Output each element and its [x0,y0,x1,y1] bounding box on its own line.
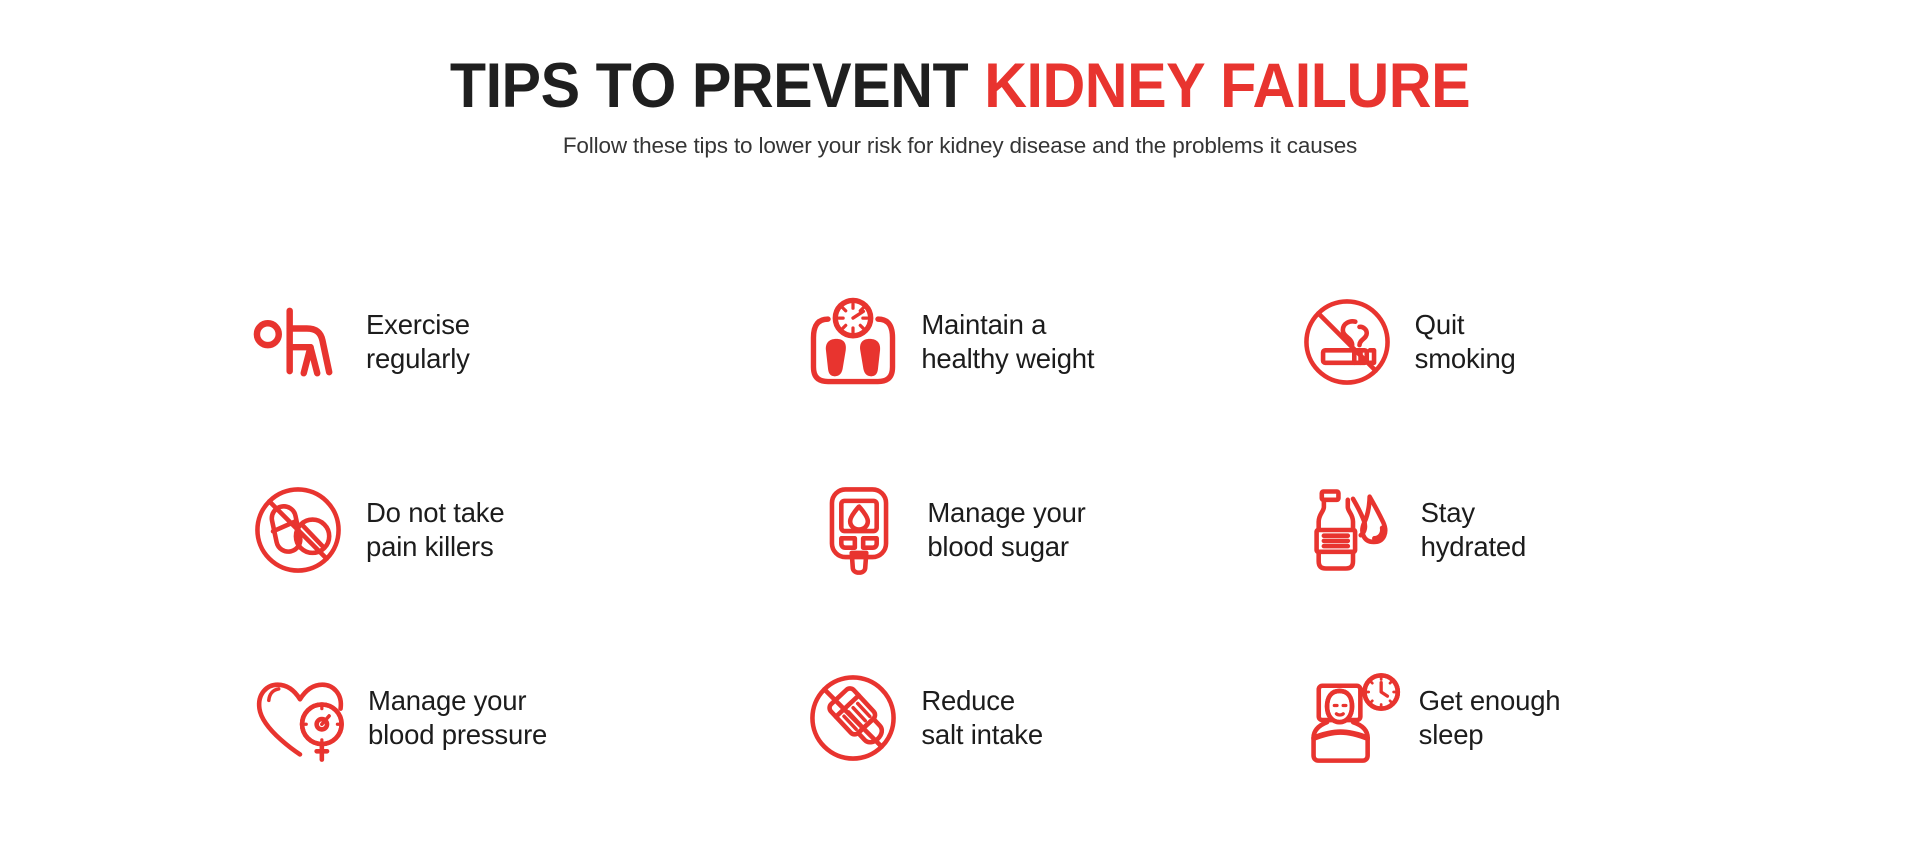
tip-label: Manage your blood pressure [368,684,547,752]
sleeping-person-clock-icon [1299,666,1403,770]
tip-label: Get enough sleep [1419,684,1561,752]
tip-item-quit-smoking: Quit smoking [1263,248,1776,436]
tip-label: Stay hydrated [1421,496,1526,564]
tip-item-healthy-weight: Maintain a healthy weight [749,248,1262,436]
heart-pressure-gauge-icon [248,666,352,770]
tip-item-stay-hydrated: Stay hydrated [1263,436,1776,624]
page-title-accent: KIDNEY FAILURE [984,51,1470,121]
infographic-poster: TIPS TO PREVENT KIDNEY FAILURE Follow th… [0,0,1920,849]
page-title: TIPS TO PREVENT KIDNEY FAILURE [58,54,1863,118]
no-smoking-icon [1295,290,1399,394]
glucose-meter-icon [807,478,911,582]
tip-item-blood-sugar: Manage your blood sugar [749,436,1262,624]
exercise-stretching-icon [246,290,350,394]
tips-grid: Exercise regularly [236,248,1776,812]
water-bottle-droplets-icon [1301,478,1405,582]
tip-label: Do not take pain killers [366,496,504,564]
tip-item-no-pain-killers: Do not take pain killers [236,436,749,624]
tip-item-blood-pressure: Manage your blood pressure [236,624,749,812]
bathroom-scale-icon [801,290,905,394]
tip-label: Quit smoking [1415,308,1516,376]
no-pills-icon [246,478,350,582]
no-salt-shaker-icon [801,666,905,770]
page-subtitle: Follow these tips to lower your risk for… [0,131,1920,160]
tip-label: Manage your blood sugar [927,496,1085,564]
header: TIPS TO PREVENT KIDNEY FAILURE Follow th… [0,0,1920,161]
tip-label: Reduce salt intake [921,684,1043,752]
page-title-main: TIPS TO PREVENT [450,51,984,121]
tip-item-reduce-salt: Reduce salt intake [749,624,1262,812]
tip-label: Exercise regularly [366,308,470,376]
tip-label: Maintain a healthy weight [921,308,1094,376]
tip-item-get-enough-sleep: Get enough sleep [1263,624,1776,812]
tip-item-exercise-regularly: Exercise regularly [236,248,749,436]
